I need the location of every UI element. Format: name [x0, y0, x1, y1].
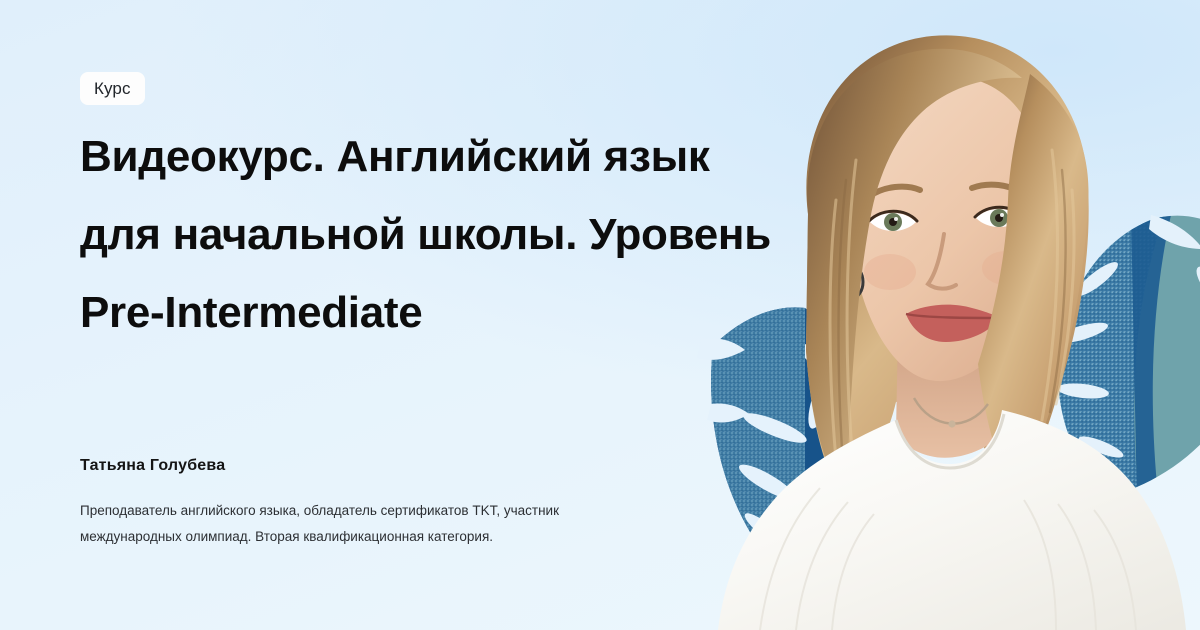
text-column: Курс Видеокурс. Английский язык для нача… — [80, 0, 840, 630]
course-cover-card: Курс Видеокурс. Английский язык для нача… — [0, 0, 1200, 630]
bio-line-1: Преподаватель английского языка, обладат… — [80, 498, 700, 524]
page-title: Видеокурс. Английский язык для начальной… — [80, 118, 840, 352]
instructor-name: Татьяна Голубева — [80, 457, 225, 475]
bio-line-2: международных олимпиад. Вторая квалифика… — [80, 524, 700, 550]
title-line-3: Pre-Intermediate — [80, 274, 840, 352]
title-line-2: для начальной школы. Уровень — [80, 196, 840, 274]
course-type-badge: Курс — [80, 72, 145, 105]
instructor-bio: Преподаватель английского языка, обладат… — [80, 498, 700, 550]
title-line-1: Видеокурс. Английский язык — [80, 118, 840, 196]
